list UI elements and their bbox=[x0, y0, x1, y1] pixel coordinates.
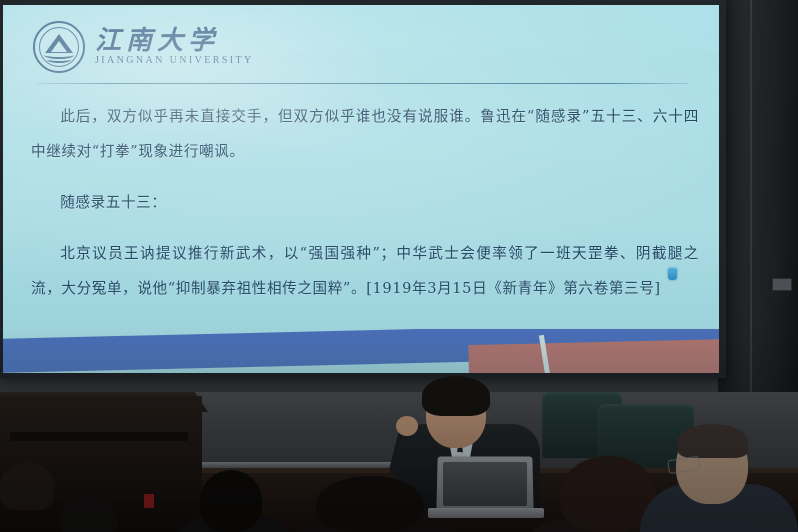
audience-member-far-left bbox=[0, 462, 54, 510]
laptop-screen bbox=[443, 462, 527, 506]
university-name-cn: 江南大学 bbox=[95, 28, 254, 55]
projection-screen-frame: 江南大学 JIANGNAN UNIVERSITY 此后，双方似乎再未直接交手，但… bbox=[0, 0, 726, 378]
slide-body-text: 此后，双方似乎再未直接交手，但双方似乎谁也没有说服谁。鲁迅在“随感录”五十三、六… bbox=[31, 99, 699, 322]
slide-divider bbox=[37, 83, 689, 84]
audience-member-left-low bbox=[60, 498, 118, 532]
wall-pillar bbox=[718, 0, 798, 392]
laptop-base bbox=[428, 508, 544, 518]
lectern-band bbox=[10, 432, 188, 441]
speaker-hair bbox=[422, 376, 490, 416]
audience-lanyard bbox=[144, 494, 154, 508]
presentation-slide: 江南大学 JIANGNAN UNIVERSITY 此后，双方似乎再未直接交手，但… bbox=[3, 5, 719, 373]
slide-branding: 江南大学 JIANGNAN UNIVERSITY bbox=[33, 21, 254, 73]
university-name-en: JIANGNAN UNIVERSITY bbox=[95, 56, 254, 66]
audience-member-center-left bbox=[316, 476, 424, 532]
lecture-hall-photo: 江南大学 JIANGNAN UNIVERSITY 此后，双方似乎再未直接交手，但… bbox=[0, 0, 798, 532]
university-wordmark: 江南大学 JIANGNAN UNIVERSITY bbox=[95, 28, 254, 66]
slide-band-red bbox=[468, 339, 719, 373]
pillar-seam bbox=[750, 0, 752, 392]
slide-paragraph-2: 随感录五十三： bbox=[31, 185, 699, 220]
projection-screen: 江南大学 JIANGNAN UNIVERSITY 此后，双方似乎再未直接交手，但… bbox=[3, 5, 719, 373]
jiangnan-university-emblem-icon bbox=[33, 21, 85, 73]
audience-member-left bbox=[200, 470, 262, 532]
slide-paragraph-1: 此后，双方似乎再未直接交手，但双方似乎谁也没有说服谁。鲁迅在“随感录”五十三、六… bbox=[31, 99, 699, 169]
audience-member-right-hair bbox=[678, 424, 748, 458]
slide-footer-bands bbox=[3, 329, 719, 373]
wall-plate-icon bbox=[772, 278, 792, 291]
speaker-hand bbox=[396, 416, 418, 436]
pointer-dot-icon bbox=[661, 263, 683, 285]
slide-paragraph-3: 北京议员王讷提议推行新武术，以“强国强种”；中华武士会便率领了一班天罡拳、阴截腿… bbox=[31, 236, 699, 306]
